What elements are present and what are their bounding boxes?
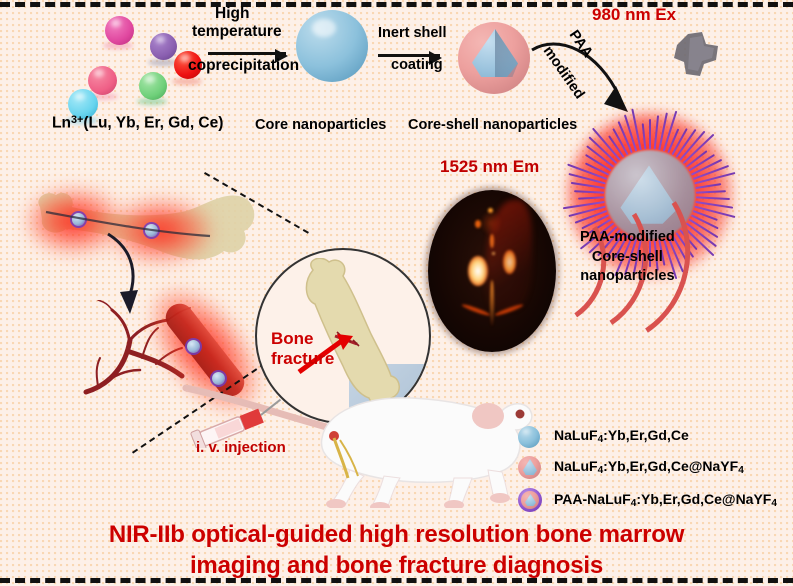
legend-label-1: NaLuF4:Yb,Er,Gd,Ce [554, 428, 689, 446]
title-line-2: imaging and bone fracture diagnosis [0, 552, 793, 580]
legend-formula-a: PAA-NaLuF [554, 491, 631, 507]
paa-caption: PAA-modified Core-shell nanoparticles [580, 230, 675, 285]
graphical-abstract-figure: Ln3+(Lu, Yb, Er, Gd, Ce) High temperatur… [0, 0, 793, 586]
laser-crystal-icon [672, 30, 724, 82]
nanoparticle-in-vessel [187, 340, 200, 353]
core-label: Core nanoparticles [255, 118, 386, 134]
ion-sphere-purple [150, 33, 177, 60]
step1-line2: temperature [192, 24, 282, 41]
figure-title: NIR-IIb optical-guided high resolution b… [0, 521, 793, 580]
legend-formula-sub2: 4 [771, 498, 777, 509]
legend-formula-mid: :Yb,Er,Gd,Ce@NaYF [603, 458, 738, 474]
legend-formula-rest: :Yb,Er,Gd,Ce [603, 427, 689, 443]
fracture-label-line2: fracture [271, 350, 334, 368]
precursor-label: Ln3+(Lu, Yb, Er, Gd, Ce) [52, 115, 223, 132]
legend-formula-mid: :Yb,Er,Gd,Ce@NaYF [636, 491, 771, 507]
paa-spike [649, 119, 651, 149]
fracture-label: Bone fracture [271, 330, 334, 369]
legend-formula-a: NaLuF [554, 458, 598, 474]
step1-line1: High [215, 6, 249, 23]
legend-formula-sub2: 4 [738, 465, 744, 476]
excitation-label: 980 nm Ex [592, 6, 676, 24]
paa-caption-line2: Core-shell [580, 250, 675, 266]
step2-line1: Inert shell [378, 26, 447, 42]
precursor-list: (Lu, Yb, Er, Gd, Ce) [83, 115, 223, 132]
legend-label-2: NaLuF4:Yb,Er,Gd,Ce@NaYF4 [554, 459, 744, 477]
legend-swatch-core [518, 426, 540, 448]
ion-shadow [172, 78, 202, 85]
mouse-illustration [292, 378, 542, 508]
step2-line2: coating [391, 58, 443, 74]
step1-line3: coprecipitation [188, 58, 299, 75]
precursor-charge: 3+ [71, 114, 83, 126]
legend-label-3: PAA-NaLuF4:Yb,Er,Gd,Ce@NaYF4 [554, 492, 777, 510]
title-line-1: NIR-IIb optical-guided high resolution b… [0, 521, 793, 549]
paa-caption-line1: PAA-modified [580, 230, 675, 246]
emission-label: 1525 nm Em [440, 158, 539, 176]
ion-sphere-green [139, 72, 167, 100]
precursor-label-element: Ln [52, 115, 71, 132]
fracture-label-line1: Bone [271, 330, 334, 348]
ion-sphere-rose [88, 66, 117, 95]
step1-arrow [208, 52, 286, 55]
core-nanoparticle [296, 10, 368, 82]
legend-formula-a: NaLuF [554, 427, 598, 443]
ion-sphere-pink [105, 16, 134, 45]
injection-label: i. v. injection [196, 440, 286, 456]
paa-caption-line3: nanoparticles [580, 269, 675, 285]
